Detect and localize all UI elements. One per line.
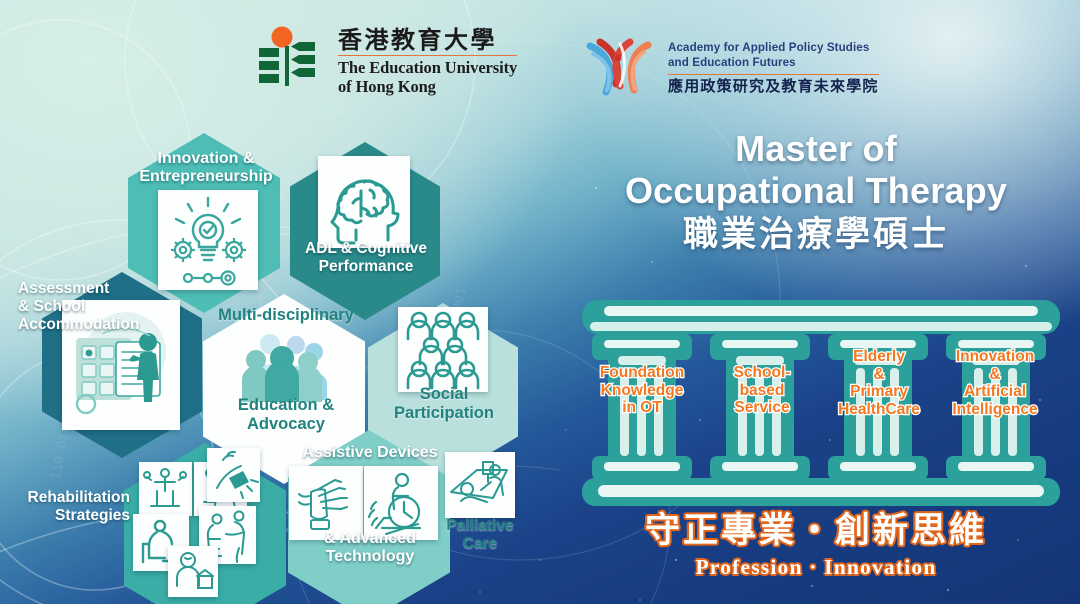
palliative-bed-icon [445,452,515,518]
innovation-line-1: Entrepreneurship [122,168,290,186]
hexagon-label-adl: ADL & Cognitive Performance [286,240,446,276]
innovation-icon-card [158,190,258,290]
crowd-people-icon [398,307,488,392]
social-line-0: Social [368,385,520,404]
multidisciplinary-bottom-line-0: Education & [198,396,374,415]
hexagon-label-innovation: Innovation & Entrepreneurship [122,150,290,187]
home-care-icon [168,546,218,597]
assistive-wheelchair-card [364,466,438,540]
palliative-care-icon-card [445,452,515,518]
title-english-line2: Occupational Therapy [566,170,1066,212]
robotic-hand-icon [289,466,363,540]
academy-english-line1: Academy for Applied Policy Studies [668,40,879,55]
social-line-1: Participation [368,404,520,423]
poster-canvas: 01001 1010 110 0101 1011 001 0 1 0 0 1 1 [0,0,1080,604]
rehab-line-1: Strategies [6,507,130,525]
academy-chinese-name: 應用政策研究及教育未來學院 [668,79,879,94]
assessment-line-1: & School [18,298,188,316]
academy-logo: Academy for Applied Policy Studies and E… [580,32,879,102]
people-group-icon [236,330,334,402]
exercise-frame-icon [139,462,192,516]
slogan-chinese: 守正專業・創新思維 [566,512,1066,551]
wheelchair-icon [364,466,438,540]
adl-icon-card [318,156,410,248]
hexagon-cluster: Assessment & School Accommodation [0,0,560,604]
social-participation-icon-card [398,307,488,392]
title-english-line1: Master of [566,128,1066,170]
academy-logo-text: Academy for Applied Policy Studies and E… [668,40,879,95]
title-chinese: 職業治療學碩士 [566,214,1066,256]
lightbulb-gears-icon [158,190,258,290]
hexagon-label-rehabilitation: Rehabilitation Strategies [6,489,130,525]
multidisciplinary-top-line: Multi-disciplinary [198,306,374,325]
palliative-line-1: Care [430,535,530,553]
palliative-line-0: Palliative [430,517,530,535]
brain-head-icon [318,156,410,248]
rehab-tile-leg-treatment [207,448,260,502]
slogan-english: Profession · Innovation [566,555,1066,580]
hexagon-label-multidisciplinary-top: Multi-disciplinary [198,306,374,325]
assessment-line-2: Accommodation [18,316,188,334]
leg-treatment-icon [207,448,260,502]
hexagon-label-social-participation: Social Participation [368,385,520,423]
adl-line-0: ADL & Cognitive [286,240,446,258]
hexagon-label-palliative-care: Palliative Care [430,517,530,553]
rehab-line-0: Rehabilitation [6,489,130,507]
assistive-robotic-hand-card [289,466,363,540]
rehab-tile-exercise-frame [139,462,192,516]
academy-english-line2: and Education Futures [668,55,879,70]
rehab-tile-home-care [168,546,218,597]
multidisciplinary-icon-card [236,330,334,402]
slogan-block: 守正專業・創新思維 Profession · Innovation [566,512,1066,580]
adl-line-1: Performance [286,258,446,276]
multidisciplinary-bottom-line-1: Advocacy [198,415,374,434]
academy-divider [668,74,879,75]
program-title: Master of Occupational Therapy 職業治療學碩士 [566,128,1066,256]
hexagon-label-assistive-top: Assistive Devices [284,444,456,462]
assistive-top-line: Assistive Devices [284,444,456,462]
four-pillars-graphic [582,296,1060,510]
academy-butterfly-icon [580,32,658,102]
hexagon-label-multidisciplinary-bottom: Education & Advocacy [198,396,374,434]
innovation-line-0: Innovation & [122,150,290,168]
